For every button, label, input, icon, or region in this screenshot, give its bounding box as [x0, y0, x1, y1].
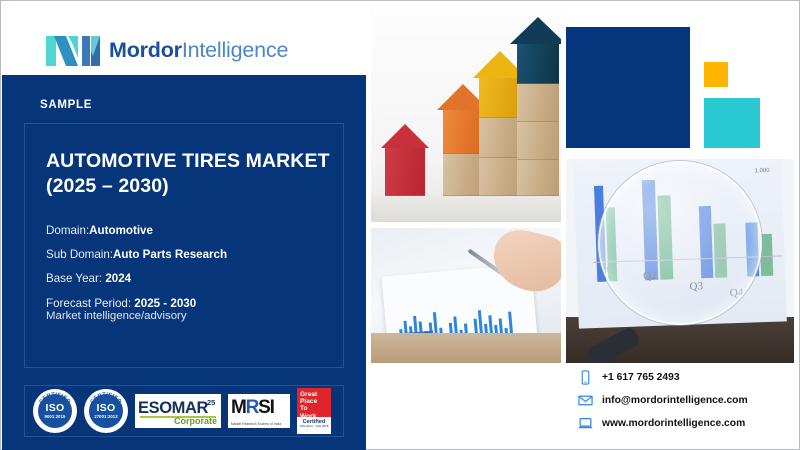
house-body-3c	[479, 158, 521, 196]
esomar-badge: ESOMAR 25 Corporate	[135, 394, 221, 428]
meta-row-domain: Domain:Automotive	[46, 225, 331, 237]
mrsi-label: MRSI	[231, 397, 274, 419]
house-body-2b	[443, 154, 483, 196]
contact-phone-text: +1 617 765 2493	[602, 372, 680, 383]
iso-label: ISO	[46, 403, 65, 414]
photo-desk	[371, 333, 561, 363]
house-roof-4	[510, 17, 561, 44]
brand-name-bold: Mordor	[109, 38, 182, 62]
orange-decorative-block	[704, 62, 728, 87]
house-body-1	[385, 148, 425, 196]
gptw-line-1: Great	[300, 391, 331, 398]
mordor-m-logo-icon	[46, 34, 100, 68]
contact-row-website[interactable]: www.mordorintelligence.com	[578, 416, 793, 431]
iso-27001-badge: CERTIFIED COMPANY ISO 27001:2013	[84, 389, 128, 433]
house-block-2	[443, 84, 483, 196]
certification-badges: CERTIFIED COMPANY ISO 9001:2015 CERTIFIE…	[24, 385, 344, 437]
brand-name-light: Intelligence	[182, 38, 288, 62]
house-body-3b	[479, 118, 521, 158]
house-body-4d	[517, 160, 559, 196]
magnifier-over-chart-photo: 1,000 Q1 Q2 Q3 Q4	[566, 159, 794, 363]
iso-badge-core: ISO 27001:2013	[89, 394, 123, 428]
logo-header: MordorIntelligence	[2, 2, 366, 75]
house-body-4c	[517, 122, 559, 160]
mrsi-badge: MRSI Market Research Society of India	[228, 394, 290, 428]
wooden-block-houses-photo	[371, 8, 561, 222]
gptw-period: JAN 2024 - JAN 2025	[297, 425, 331, 429]
meta-value: Auto Parts Research	[113, 248, 227, 261]
contact-list: +1 617 765 2493 info@mordorintelligence.…	[578, 370, 793, 439]
meta-row-base-year: Base Year: 2024	[46, 273, 331, 285]
photo-floor	[371, 196, 561, 222]
great-place-to-work-badge: Great Place To Work. Certified JAN 2024 …	[297, 388, 331, 434]
brand-wordmark: MordorIntelligence	[109, 40, 288, 62]
meta-value: Automotive	[89, 224, 153, 237]
meta-value: 2025 - 2030	[134, 297, 196, 310]
iso-standard-number: 27001:2013	[94, 415, 117, 419]
report-title-years: (2025 – 2030)	[46, 174, 331, 199]
report-title-text: AUTOMOTIVE TIRES MARKET	[46, 150, 330, 172]
gptw-red-block: Great Place To Work.	[297, 388, 331, 417]
right-column: 1,000 Q1 Q2 Q3 Q4	[366, 2, 800, 450]
page-title: AUTOMOTIVE TIRES MARKET (2025 – 2030)	[46, 149, 331, 198]
house-block-3	[479, 51, 521, 196]
house-body-4a	[517, 44, 559, 84]
envelope-icon	[578, 393, 593, 408]
brand-logo[interactable]: MordorIntelligence	[46, 34, 288, 68]
meta-value: 2024	[105, 272, 131, 285]
panel-tagline: Market intelligence/advisory	[46, 310, 187, 322]
cyan-decorative-block	[704, 98, 760, 148]
gptw-line-3: To	[300, 405, 331, 412]
meta-key: Forecast Period:	[46, 297, 131, 310]
house-body-3a	[479, 78, 521, 118]
left-column: MordorIntelligence SAMPLE AUTOMOTIVE TIR…	[2, 2, 366, 450]
meta-row-sub-domain: Sub Domain:Auto Parts Research	[46, 249, 331, 261]
iso-badge-core: ISO 9001:2015	[38, 394, 72, 428]
meta-key: Base Year:	[46, 272, 102, 285]
house-body-2a	[443, 110, 483, 154]
contact-website-text: www.mordorintelligence.com	[602, 418, 745, 429]
gptw-line-2: Place	[300, 398, 331, 405]
hand-pointing-at-chart-photo	[371, 228, 561, 363]
meta-row-forecast-period: Forecast Period: 2025 - 2030	[46, 298, 331, 310]
contact-email-text: info@mordorintelligence.com	[602, 395, 748, 406]
report-meta-list: Domain:Automotive Sub Domain:Auto Parts …	[46, 225, 331, 322]
house-roof-1	[381, 124, 429, 148]
iso-label: ISO	[97, 403, 116, 414]
meta-key: Domain:	[46, 224, 89, 237]
laptop-icon	[578, 416, 593, 431]
iso-9001-badge: CERTIFIED COMPANY ISO 9001:2015	[33, 389, 77, 433]
house-body-4b	[517, 84, 559, 122]
contact-row-phone[interactable]: +1 617 765 2493	[578, 370, 793, 385]
sample-badge: SAMPLE	[40, 99, 92, 111]
esomar-superscript: 25	[207, 398, 215, 407]
iso-standard-number: 9001:2015	[45, 415, 66, 419]
report-cover-page: MordorIntelligence SAMPLE AUTOMOTIVE TIR…	[0, 0, 800, 450]
gptw-certified-block: Certified JAN 2024 - JAN 2025	[297, 417, 331, 434]
navy-decorative-block	[566, 27, 690, 148]
house-block-1	[385, 124, 425, 196]
house-block-4	[517, 17, 559, 196]
navy-info-panel: SAMPLE AUTOMOTIVE TIRES MARKET (2025 – 2…	[2, 75, 366, 450]
mrsi-subtitle: Market Research Society of India	[231, 422, 281, 426]
report-details-frame: AUTOMOTIVE TIRES MARKET (2025 – 2030) Do…	[24, 123, 344, 368]
phone-icon	[578, 370, 593, 385]
contact-row-email[interactable]: info@mordorintelligence.com	[578, 393, 793, 408]
magnifying-glass-lens	[598, 161, 762, 325]
meta-key: Sub Domain:	[46, 248, 113, 261]
esomar-corporate-label: Corporate	[174, 416, 217, 426]
